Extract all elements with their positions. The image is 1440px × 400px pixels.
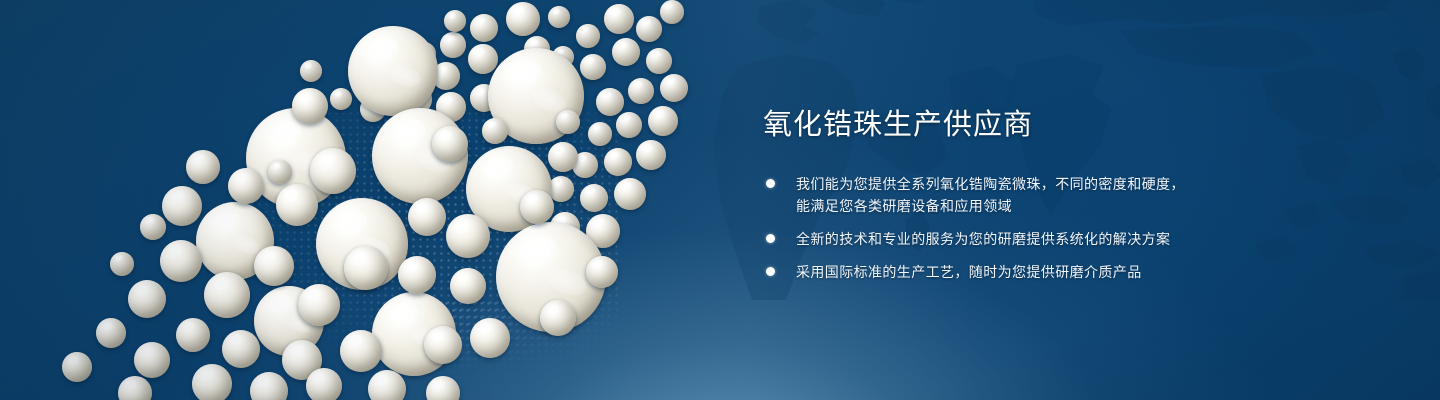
bullet-dot-icon [766,179,775,188]
banner-title: 氧化锆珠生产供应商 [763,108,1233,143]
list-item: 我们能为您提供全系列氧化锆陶瓷微珠，不同的密度和硬度， 能满足您各类研磨设备和应… [766,173,1233,217]
bullet-dot-icon [766,267,775,276]
bullet-text-line: 全新的技术和专业的服务为您的研磨提供系统化的解决方案 [796,228,1233,250]
bullet-text-line: 采用国际标准的生产工艺，随时为您提供研磨介质产品 [796,261,1233,283]
bullet-text-line: 我们能为您提供全系列氧化锆陶瓷微珠，不同的密度和硬度， [796,173,1233,195]
banner-content: 氧化锆珠生产供应商 我们能为您提供全系列氧化锆陶瓷微珠，不同的密度和硬度， 能满… [763,108,1233,283]
bullet-dot-icon [766,234,775,243]
list-item: 采用国际标准的生产工艺，随时为您提供研磨介质产品 [766,261,1233,283]
hero-banner: 氧化锆珠生产供应商 我们能为您提供全系列氧化锆陶瓷微珠，不同的密度和硬度， 能满… [0,0,1440,400]
banner-feature-list: 我们能为您提供全系列氧化锆陶瓷微珠，不同的密度和硬度， 能满足您各类研磨设备和应… [766,173,1233,283]
bullet-text-line: 能满足您各类研磨设备和应用领域 [796,195,1233,217]
list-item: 全新的技术和专业的服务为您的研磨提供系统化的解决方案 [766,228,1233,250]
